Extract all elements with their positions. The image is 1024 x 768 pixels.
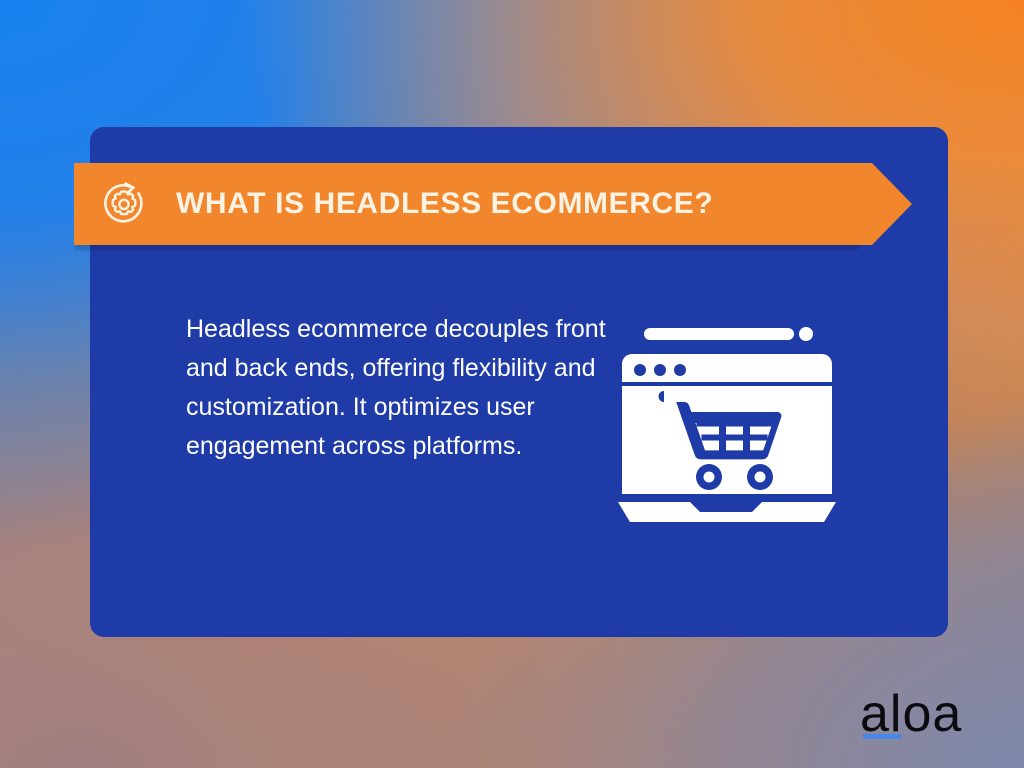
gear-refresh-icon	[98, 178, 150, 230]
body-paragraph: Headless ecommerce decouples front and b…	[186, 310, 616, 466]
browser-shopping-cart-illustration	[616, 320, 838, 528]
aloa-logo: aloa	[860, 688, 990, 746]
ribbon-banner: WHAT IS HEADLESS ECOMMERCE?	[74, 163, 912, 245]
logo-underline	[863, 734, 901, 739]
logo-text: aloa	[860, 688, 990, 740]
page-title: WHAT IS HEADLESS ECOMMERCE?	[176, 187, 713, 221]
ribbon-header: WHAT IS HEADLESS ECOMMERCE?	[74, 163, 912, 245]
